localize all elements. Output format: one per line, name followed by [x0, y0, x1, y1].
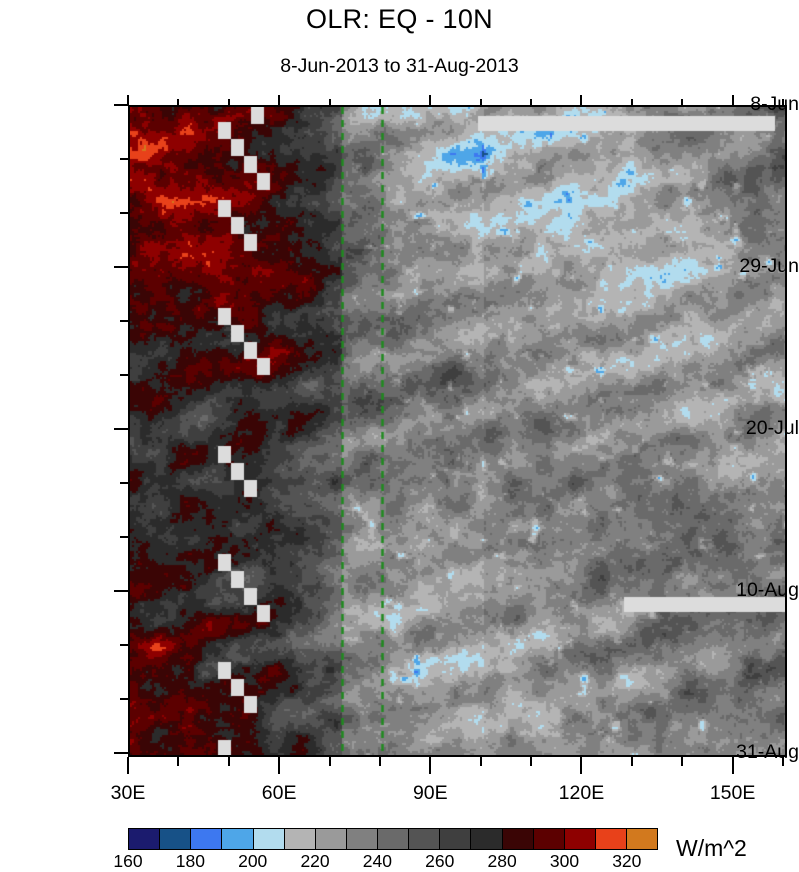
- colorbar-swatch: [254, 829, 285, 849]
- y-tick-label: 20-Jul: [695, 419, 799, 439]
- colorbar-swatch: [347, 829, 378, 849]
- x-tick-top: [782, 99, 784, 105]
- x-tick-minor: [480, 757, 482, 766]
- x-tick-minor: [228, 757, 230, 766]
- y-tick-minor: [120, 212, 128, 214]
- x-tick-top: [530, 99, 532, 105]
- y-tick-minor: [120, 482, 128, 484]
- colorbar-swatch: [191, 829, 222, 849]
- olr-heatmap-canvas: [130, 107, 785, 755]
- colorbar-swatch: [534, 829, 565, 849]
- y-tick-minor: [120, 374, 128, 376]
- x-tick-minor: [329, 757, 331, 766]
- x-tick-major: [429, 757, 431, 774]
- colorbar-swatch: [160, 829, 191, 849]
- x-tick-top: [127, 95, 129, 105]
- colorbar-swatch: [503, 829, 534, 849]
- y-tick-minor: [120, 698, 128, 700]
- colorbar-swatch: [471, 829, 502, 849]
- x-tick-major: [278, 757, 280, 774]
- colorbar-swatch: [316, 829, 347, 849]
- x-tick-top: [177, 99, 179, 105]
- x-tick-minor: [782, 757, 784, 766]
- y-tick-minor: [120, 536, 128, 538]
- x-tick-top: [429, 95, 431, 105]
- x-tick-label: 90E: [385, 782, 475, 805]
- x-tick-minor: [631, 757, 633, 766]
- y-tick-minor: [120, 320, 128, 322]
- colorbar-swatch: [378, 829, 409, 849]
- x-tick-major: [732, 757, 734, 774]
- y-tick-label: 29-Jun: [695, 257, 799, 277]
- x-tick-minor: [681, 757, 683, 766]
- y-tick-minor: [120, 158, 128, 160]
- x-tick-label: 120E: [536, 782, 626, 805]
- x-tick-minor: [177, 757, 179, 766]
- x-tick-top: [631, 99, 633, 105]
- y-tick-major: [114, 104, 128, 106]
- x-tick-label: 30E: [83, 782, 173, 805]
- colorbar-swatch: [596, 829, 627, 849]
- x-tick-major: [580, 757, 582, 774]
- x-tick-top: [228, 99, 230, 105]
- x-tick-top: [278, 95, 280, 105]
- hovmoller-plot-area: [128, 105, 787, 757]
- page-subtitle: 8-Jun-2013 to 31-Aug-2013: [0, 55, 799, 78]
- x-tick-top: [329, 99, 331, 105]
- y-tick-major: [114, 266, 128, 268]
- y-tick-label: 10-Aug: [695, 581, 799, 601]
- page-title: OLR: EQ - 10N: [0, 4, 799, 35]
- x-tick-top: [480, 99, 482, 105]
- x-tick-label: 150E: [688, 782, 778, 805]
- y-tick-major: [114, 752, 128, 754]
- x-tick-top: [732, 95, 734, 105]
- colorbar-swatch: [222, 829, 253, 849]
- x-tick-major: [127, 757, 129, 774]
- x-tick-label: 60E: [234, 782, 324, 805]
- colorbar: [128, 828, 658, 850]
- y-tick-major: [114, 590, 128, 592]
- colorbar-swatch: [285, 829, 316, 849]
- x-tick-minor: [379, 757, 381, 766]
- colorbar-swatch: [565, 829, 596, 849]
- colorbar-swatch: [627, 829, 657, 849]
- x-tick-top: [681, 99, 683, 105]
- colorbar-swatch: [129, 829, 160, 849]
- colorbar-swatch: [409, 829, 440, 849]
- x-tick-top: [580, 95, 582, 105]
- colorbar-swatch: [440, 829, 471, 849]
- x-tick-top: [379, 99, 381, 105]
- x-tick-minor: [530, 757, 532, 766]
- colorbar-units-label: W/m^2: [676, 835, 747, 862]
- y-tick-minor: [120, 644, 128, 646]
- y-tick-major: [114, 428, 128, 430]
